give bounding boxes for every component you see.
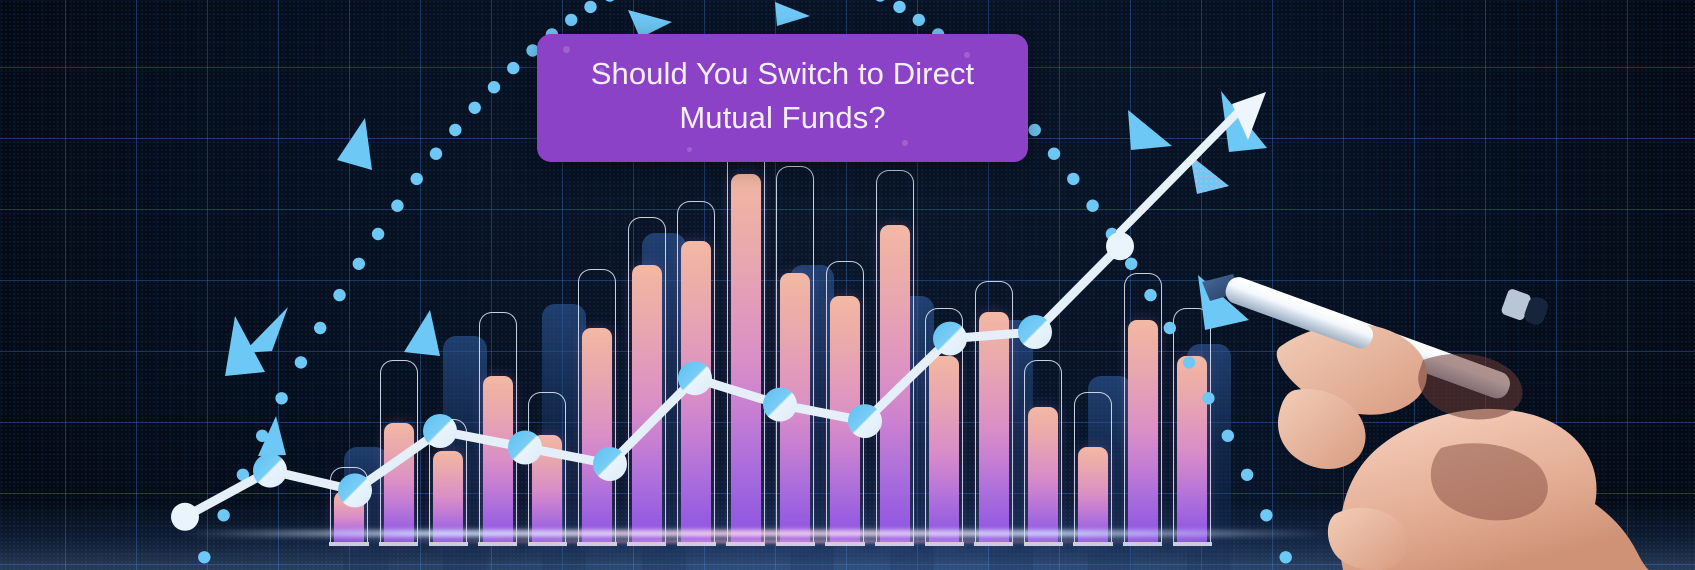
sparkle-icon bbox=[599, 68, 604, 73]
sparkle-icon bbox=[687, 147, 692, 152]
page-title: Should You Switch to Direct Mutual Funds… bbox=[561, 52, 1004, 140]
sparkle-icon bbox=[902, 140, 908, 146]
hand-holding-pen bbox=[1175, 240, 1695, 570]
arrow-shaft bbox=[1120, 110, 1240, 232]
infographic-banner: Should You Switch to Direct Mutual Funds… bbox=[0, 0, 1695, 570]
sparkle-icon bbox=[563, 46, 570, 53]
sparkle-icon bbox=[964, 52, 970, 58]
knuckle-shadow bbox=[1418, 354, 1522, 420]
title-badge: Should You Switch to Direct Mutual Funds… bbox=[537, 34, 1028, 162]
